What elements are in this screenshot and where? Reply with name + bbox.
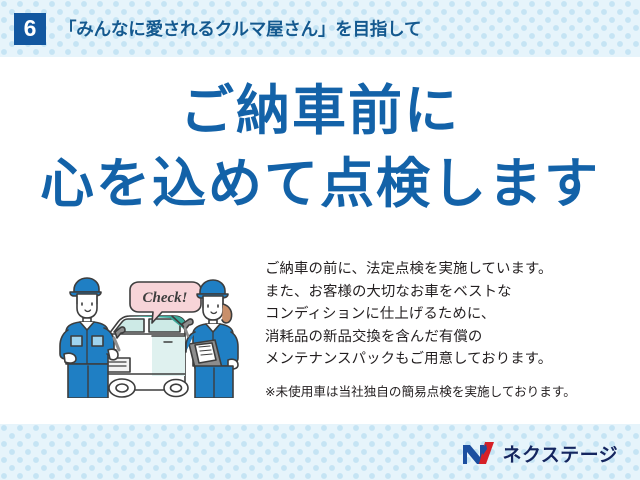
body-line: 消耗品の新品交換を含んだ有償の [265,326,625,349]
body-line: ご納車の前に、法定点検を実施しています。 [265,258,625,281]
page-title: ご納車前に 心を込めて点検します [0,84,640,211]
promo-banner: 6 「みんなに愛されるクルマ屋さん」を目指して ご納車前に 心を込めて点検します [0,0,640,480]
nextage-n-mark-icon [462,441,496,465]
step-number-badge: 6 [14,13,46,45]
headline-line-1: ご納車前に [0,84,640,138]
headline-line-2: 心を込めて点検します [0,157,640,211]
brand-logo: ネクステージ [462,440,618,466]
illustration-svg: Check! [52,266,262,398]
disclaimer-note: ※未使用車は当社独自の簡易点検を実施しております。 [265,381,630,400]
header-title: 「みんなに愛されるクルマ屋さん」を目指して [59,16,421,41]
header: 6 「みんなに愛されるクルマ屋さん」を目指して [0,0,640,57]
check-bubble-label: Check! [143,290,188,306]
body-line: メンテナンスパックもご用意しております。 [265,348,625,371]
brand-name: ネクステージ [503,440,618,467]
body-copy: ご納車の前に、法定点検を実施しています。 また、お客様の大切なお車をベストな コ… [265,258,625,371]
body-line: また、お客様の大切なお車をベストな [265,281,625,304]
body-line: コンディションに仕上げるために、 [265,303,625,326]
mechanics-illustration: Check! [52,266,262,398]
